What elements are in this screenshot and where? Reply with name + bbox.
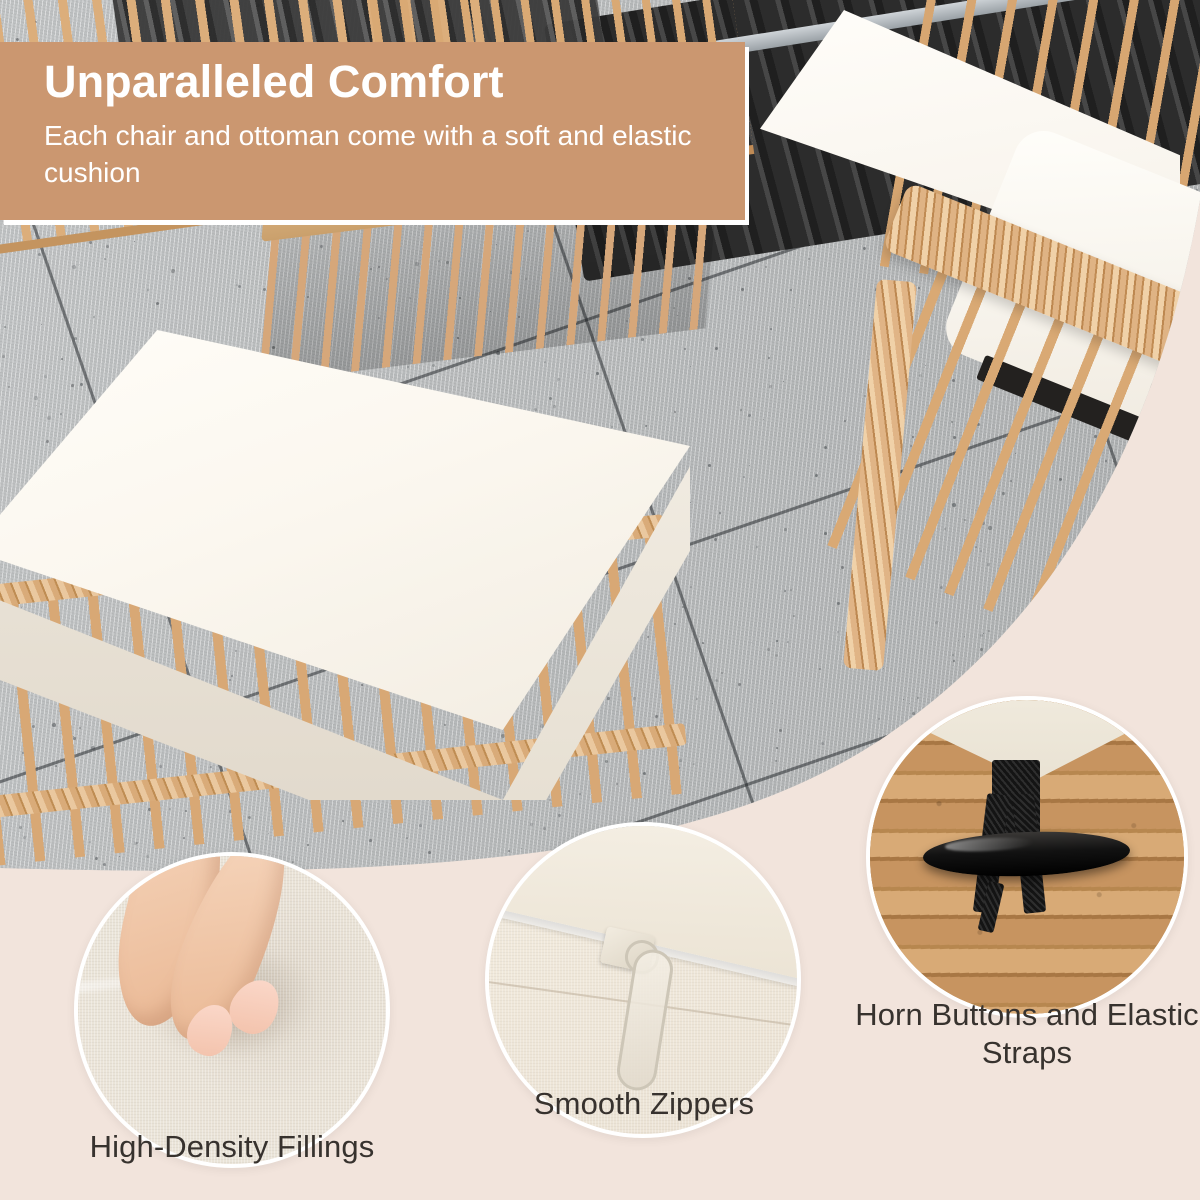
banner-title: Unparalleled Comfort	[44, 58, 705, 107]
patio-speckle	[1193, 361, 1196, 364]
patio-speckle	[238, 285, 241, 288]
patio-speckle	[1189, 478, 1192, 481]
feature-circle-high-density-fillings	[74, 852, 390, 1168]
patio-speckle	[1154, 627, 1157, 630]
patio-speckle	[1172, 555, 1174, 557]
banner-subtitle: Each chair and ottoman come with a soft …	[44, 118, 705, 192]
patio-speckle	[1171, 540, 1175, 544]
patio-speckle	[809, 305, 810, 306]
patio-speckle	[147, 289, 149, 291]
patio-speckle	[33, 894, 36, 897]
patio-speckle	[994, 673, 997, 676]
patio-speckle	[749, 465, 750, 466]
patio-speckle	[917, 697, 919, 699]
patio-speckle	[1179, 460, 1181, 462]
infographic-stage: Unparalleled Comfort Each chair and otto…	[0, 0, 1200, 1200]
patio-speckle	[821, 742, 824, 745]
patio-speckle	[89, 241, 92, 244]
patio-speckle	[830, 769, 833, 772]
patio-speckle	[1116, 664, 1118, 666]
patio-speckle	[0, 874, 1, 877]
high-density-fillings-image	[78, 856, 386, 1164]
patio-speckle	[1096, 532, 1099, 535]
patio-speckle	[72, 265, 76, 269]
patio-speckle	[1178, 684, 1181, 687]
patio-speckle	[1011, 629, 1013, 631]
patio-speckle	[1101, 592, 1102, 593]
caption-smooth-zippers: Smooth Zippers	[455, 1085, 833, 1123]
patio-speckle	[1036, 635, 1039, 638]
patio-speckle	[751, 642, 752, 643]
patio-speckle	[775, 654, 778, 657]
patio-speckle	[808, 258, 810, 260]
patio-speckle	[1050, 623, 1053, 626]
patio-speckle	[767, 648, 770, 651]
patio-speckle	[790, 589, 792, 591]
patio-speckle	[800, 839, 803, 842]
patio-speckle	[1192, 335, 1195, 338]
patio-speckle	[790, 289, 792, 291]
patio-speckle	[1053, 605, 1056, 608]
patio-speckle	[1192, 310, 1193, 311]
patio-speckle	[1168, 697, 1170, 699]
caption-horn-buttons-elastic-straps: Horn Buttons and Elastic Straps	[846, 996, 1200, 1072]
rattan-ottoman	[0, 300, 730, 860]
patio-speckle	[1170, 676, 1173, 679]
patio-speckle	[106, 245, 109, 248]
patio-speckle	[79, 264, 80, 265]
ottoman-cushion	[0, 330, 690, 800]
patio-speckle	[748, 414, 751, 417]
patio-speckle	[769, 385, 772, 388]
patio-speckle	[787, 641, 789, 643]
patio-speckle	[1171, 673, 1173, 675]
patio-speckle	[1181, 663, 1183, 665]
patio-speckle	[738, 683, 741, 686]
patio-speckle	[1081, 683, 1083, 685]
patio-speckle	[776, 747, 778, 749]
patio-speckle	[171, 269, 175, 273]
patio-speckle	[1122, 578, 1125, 581]
patio-speckle	[1116, 666, 1118, 668]
patio-speckle	[853, 874, 856, 877]
patio-speckle	[775, 760, 777, 762]
patio-speckle	[1184, 499, 1187, 502]
patio-speckle	[1161, 658, 1163, 660]
patio-speckle	[1185, 363, 1187, 365]
patio-speckle	[1077, 567, 1079, 569]
headline-banner: Unparalleled Comfort Each chair and otto…	[0, 42, 745, 220]
horn-buttons-elastic-straps-image	[870, 700, 1184, 1014]
patio-speckle	[741, 288, 744, 291]
patio-speckle	[784, 590, 786, 592]
patio-speckle	[794, 307, 795, 308]
patio-speckle	[783, 381, 784, 382]
patio-speckle	[765, 266, 767, 268]
patio-speckle	[21, 876, 22, 877]
patio-speckle	[772, 703, 773, 704]
patio-speckle	[808, 735, 809, 736]
patio-speckle	[1118, 470, 1121, 473]
patio-speckle	[134, 241, 135, 242]
feature-circle-horn-buttons-elastic-straps	[866, 696, 1188, 1018]
patio-speckle	[1191, 725, 1193, 727]
patio-speckle	[1117, 591, 1120, 594]
patio-speckle	[1166, 624, 1167, 625]
patio-speckle	[768, 357, 770, 359]
patio-speckle	[1194, 306, 1196, 308]
rattan-armchair	[820, 0, 1200, 680]
patio-speckle	[248, 224, 250, 226]
patio-speckle	[38, 253, 41, 256]
patio-speckle	[104, 258, 106, 260]
patio-speckle	[1060, 591, 1062, 593]
patio-speckle	[776, 640, 778, 642]
patio-speckle	[793, 615, 795, 617]
patio-speckle	[779, 729, 782, 732]
patio-speckle	[1074, 575, 1076, 577]
patio-speckle	[1163, 644, 1166, 647]
patio-speckle	[1185, 696, 1186, 697]
patio-speckle	[815, 474, 818, 477]
caption-high-density-fillings: High-Density Fillings	[32, 1128, 432, 1166]
patio-speckle	[784, 528, 787, 531]
patio-speckle	[763, 419, 764, 420]
patio-speckle	[1038, 679, 1039, 680]
patio-speckle	[743, 257, 744, 258]
patio-speckle	[1175, 426, 1177, 428]
patio-speckle	[770, 328, 772, 330]
patio-speckle	[1182, 397, 1186, 401]
patio-speckle	[740, 409, 742, 411]
patio-speckle	[1048, 617, 1051, 620]
patio-speckle	[1147, 452, 1150, 455]
patio-speckle	[743, 476, 745, 478]
patio-speckle	[756, 546, 758, 548]
patio-speckle	[1060, 635, 1062, 637]
patio-speckle	[1135, 625, 1138, 628]
patio-speckle	[1093, 588, 1095, 590]
patio-speckle	[1083, 641, 1087, 645]
